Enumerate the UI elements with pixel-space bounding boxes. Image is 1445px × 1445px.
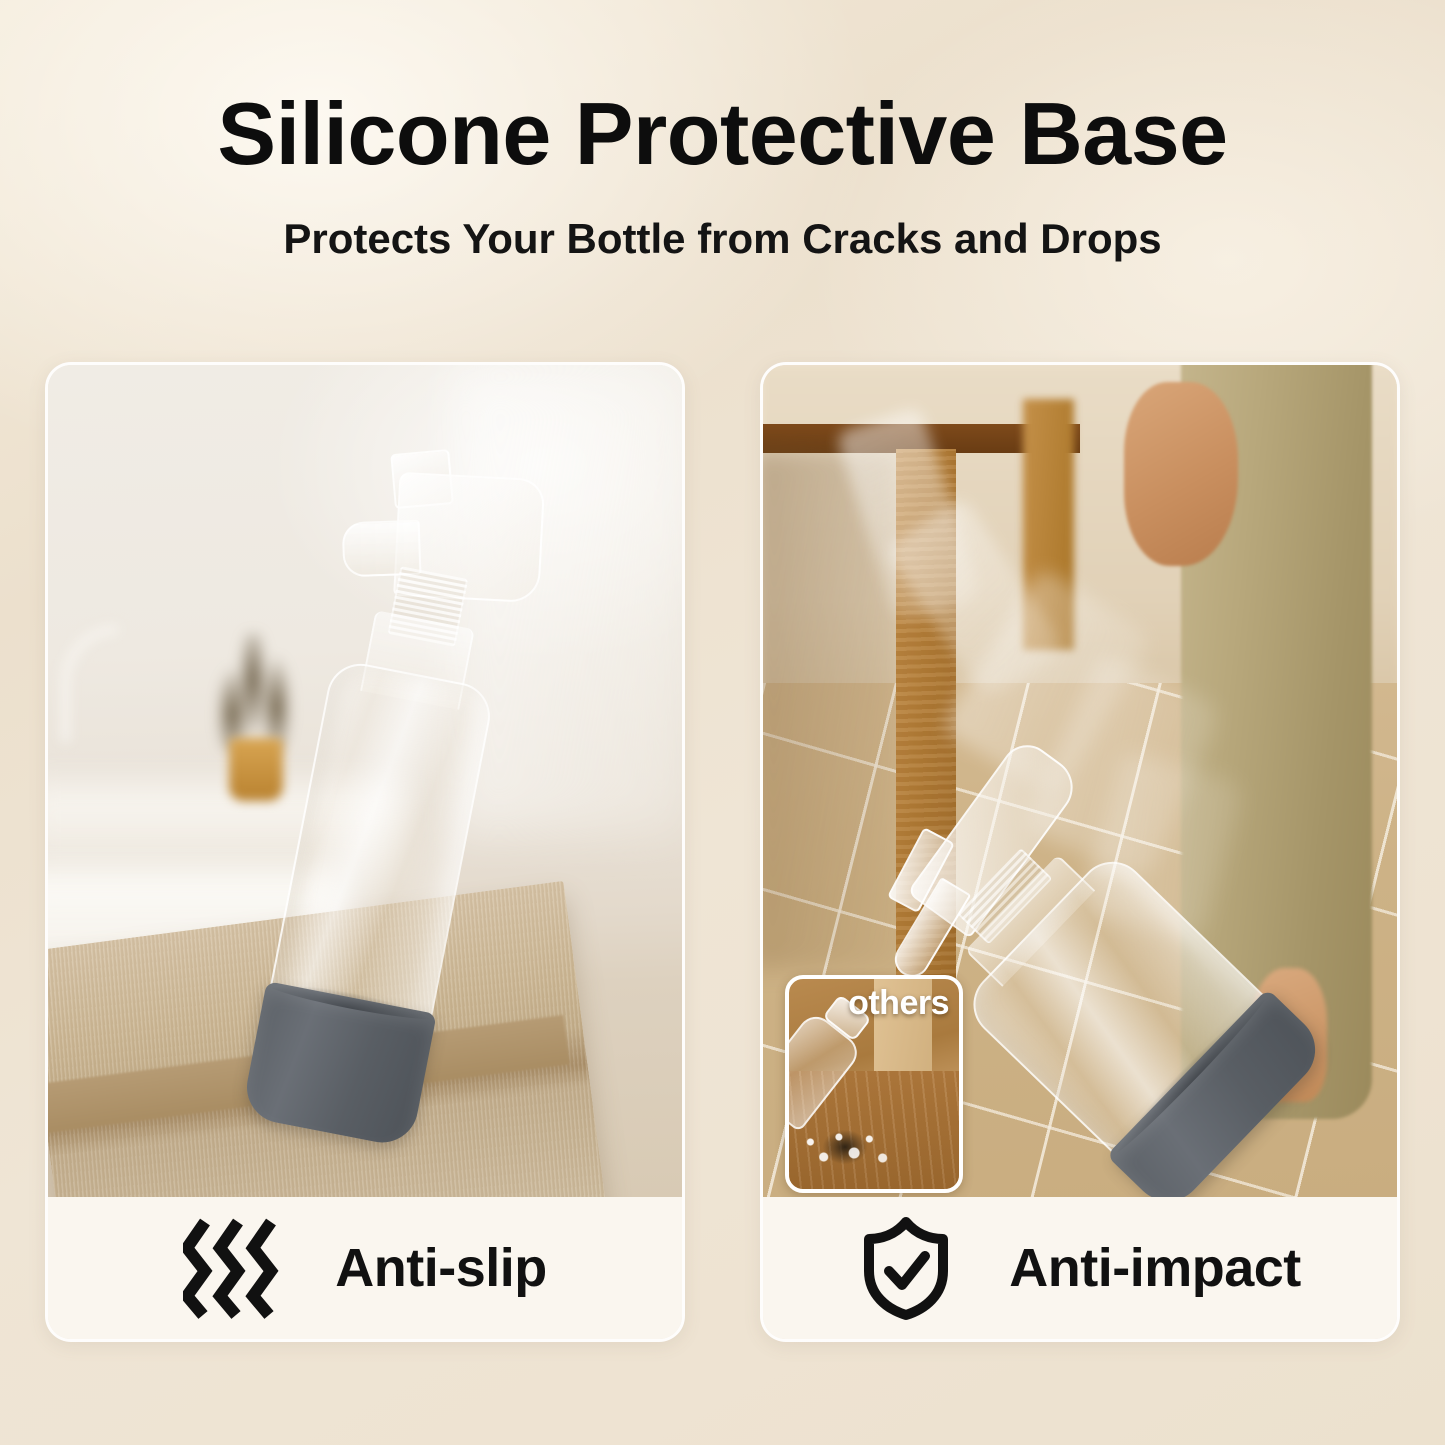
feature-card-anti-impact: others Anti-impact	[760, 362, 1400, 1342]
feature-card-anti-slip: Anti-slip	[45, 362, 685, 1342]
photo-anti-impact: others	[763, 365, 1397, 1203]
zigzag-waves-icon	[183, 1216, 279, 1320]
plant-leaves	[216, 633, 298, 750]
person-hand	[1124, 382, 1238, 566]
plant-pot	[229, 738, 283, 801]
page-subtitle: Protects Your Bottle from Cracks and Dro…	[0, 216, 1445, 262]
shield-check-icon	[859, 1215, 953, 1321]
page-title: Silicone Protective Base	[0, 88, 1445, 180]
photo-anti-slip	[48, 365, 682, 1203]
feature-label-text: Anti-slip	[335, 1241, 546, 1295]
header: Silicone Protective Base Protects Your B…	[0, 0, 1445, 330]
inset-label: others	[848, 985, 949, 1022]
others-comparison-inset: others	[785, 975, 963, 1193]
feature-label-anti-slip: Anti-slip	[48, 1197, 682, 1339]
feature-label-text: Anti-impact	[1009, 1241, 1301, 1295]
glass-shards	[799, 1122, 894, 1172]
infographic-page: Silicone Protective Base Protects Your B…	[0, 0, 1445, 1445]
faucet-icon	[61, 625, 118, 742]
feature-label-anti-impact: Anti-impact	[763, 1197, 1397, 1339]
